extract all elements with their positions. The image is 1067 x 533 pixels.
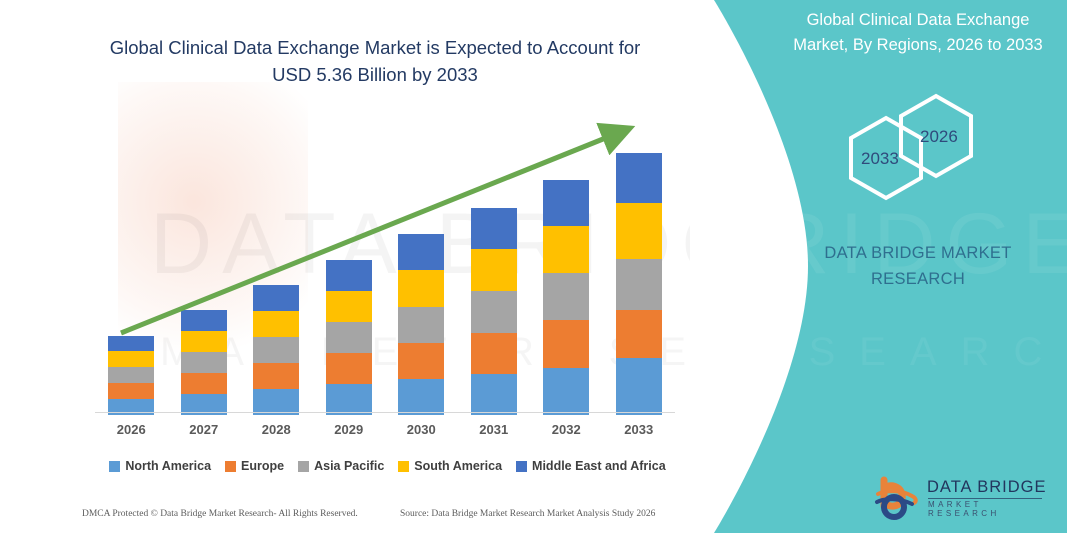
x-label-2026: 2026 — [101, 422, 161, 437]
bar-segment-europe — [398, 343, 444, 379]
bar-segment-south-america — [616, 203, 662, 259]
legend-item-middle-east-and-africa[interactable]: Middle East and Africa — [516, 459, 666, 473]
bar-segment-south-america — [471, 249, 517, 291]
bar-segment-europe — [326, 353, 372, 384]
logo-mark — [872, 476, 924, 520]
footer: DMCA Protected © Data Bridge Market Rese… — [0, 505, 720, 529]
bar-segment-middle-east-and-africa — [616, 153, 662, 203]
x-label-2031: 2031 — [464, 422, 524, 437]
bar-segment-europe — [253, 363, 299, 389]
bar-segment-middle-east-and-africa — [471, 208, 517, 249]
bar-segment-middle-east-and-africa — [181, 310, 227, 331]
hexagon-badges: 2026 2033 — [828, 92, 1008, 207]
bar-2030 — [398, 234, 444, 415]
legend-swatch-icon — [109, 461, 120, 472]
logo-divider — [928, 498, 1042, 499]
bar-segment-europe — [181, 373, 227, 394]
bar-segment-north-america — [398, 379, 444, 415]
bar-segment-asia-pacific — [326, 322, 372, 353]
bar-2032 — [543, 180, 589, 415]
legend-item-asia-pacific[interactable]: Asia Pacific — [298, 459, 384, 473]
bar-segment-south-america — [398, 270, 444, 307]
bar-segment-north-america — [326, 384, 372, 415]
legend-item-south-america[interactable]: South America — [398, 459, 502, 473]
bar-segment-south-america — [253, 311, 299, 337]
footer-copyright: DMCA Protected © Data Bridge Market Rese… — [82, 509, 358, 519]
legend-label: North America — [125, 459, 211, 473]
legend-label: Europe — [241, 459, 284, 473]
right-panel-subtitle: DATA BRIDGE MARKET RESEARCH — [790, 240, 1046, 292]
bar-segment-asia-pacific — [181, 352, 227, 373]
bar-segment-middle-east-and-africa — [108, 336, 154, 351]
x-label-2033: 2033 — [609, 422, 669, 437]
legend-label: South America — [414, 459, 502, 473]
x-axis-labels: 20262027202820292030203120322033 — [95, 422, 675, 444]
bar-segment-asia-pacific — [108, 367, 154, 383]
legend-swatch-icon — [398, 461, 409, 472]
bar-segment-middle-east-and-africa — [398, 234, 444, 270]
bar-segment-south-america — [543, 226, 589, 273]
bar-segment-middle-east-and-africa — [253, 285, 299, 311]
footer-source: Source: Data Bridge Market Research Mark… — [400, 509, 655, 519]
x-label-2027: 2027 — [174, 422, 234, 437]
bar-2031 — [471, 208, 517, 415]
legend-swatch-icon — [298, 461, 309, 472]
chart-legend: North AmericaEuropeAsia PacificSouth Ame… — [95, 455, 680, 477]
page-title: Global Clinical Data Exchange Market is … — [95, 34, 655, 88]
legend-item-north-america[interactable]: North America — [109, 459, 211, 473]
x-label-2030: 2030 — [391, 422, 451, 437]
legend-swatch-icon — [516, 461, 527, 472]
bar-segment-south-america — [181, 331, 227, 352]
logo-tagline: MARKET RESEARCH — [928, 500, 1047, 518]
bar-chart — [95, 110, 680, 415]
bar-segment-asia-pacific — [616, 259, 662, 310]
x-label-2032: 2032 — [536, 422, 596, 437]
brand-logo: DATA BRIDGE MARKET RESEARCH — [872, 476, 1047, 522]
bar-segment-asia-pacific — [398, 307, 444, 343]
legend-label: Asia Pacific — [314, 459, 384, 473]
bar-segment-europe — [108, 383, 154, 399]
legend-swatch-icon — [225, 461, 236, 472]
bar-segment-north-america — [616, 358, 662, 415]
bar-2028 — [253, 285, 299, 415]
bar-2026 — [108, 336, 154, 415]
logo-name: DATA BRIDGE — [927, 478, 1047, 497]
bar-segment-south-america — [108, 351, 154, 367]
legend-label: Middle East and Africa — [532, 459, 666, 473]
axis-baseline — [95, 412, 675, 413]
bar-segment-asia-pacific — [253, 337, 299, 363]
bar-segment-middle-east-and-africa — [543, 180, 589, 226]
x-label-2028: 2028 — [246, 422, 306, 437]
bar-segment-europe — [471, 333, 517, 374]
bar-2029 — [326, 260, 372, 415]
chart-panel: DATA BRIDGE MARKET RESEARCH Global Clini… — [0, 0, 760, 533]
hexagon-label-2033: 2033 — [861, 149, 899, 169]
bar-segment-south-america — [326, 291, 372, 322]
bar-segment-middle-east-and-africa — [326, 260, 372, 291]
bar-segment-asia-pacific — [471, 291, 517, 333]
x-label-2029: 2029 — [319, 422, 379, 437]
legend-item-europe[interactable]: Europe — [225, 459, 284, 473]
bar-2033 — [616, 153, 662, 415]
infographic-root: DATA BRIDGE MARKET RESEARCH Global Clini… — [0, 0, 1067, 533]
bar-2027 — [181, 310, 227, 415]
hexagon-label-2026: 2026 — [920, 127, 958, 147]
bar-segment-asia-pacific — [543, 273, 589, 320]
right-panel-title: Global Clinical Data Exchange Market, By… — [778, 8, 1058, 58]
bar-segment-north-america — [471, 374, 517, 415]
bar-segment-europe — [616, 310, 662, 358]
bar-segment-europe — [543, 320, 589, 368]
bar-segment-north-america — [543, 368, 589, 415]
